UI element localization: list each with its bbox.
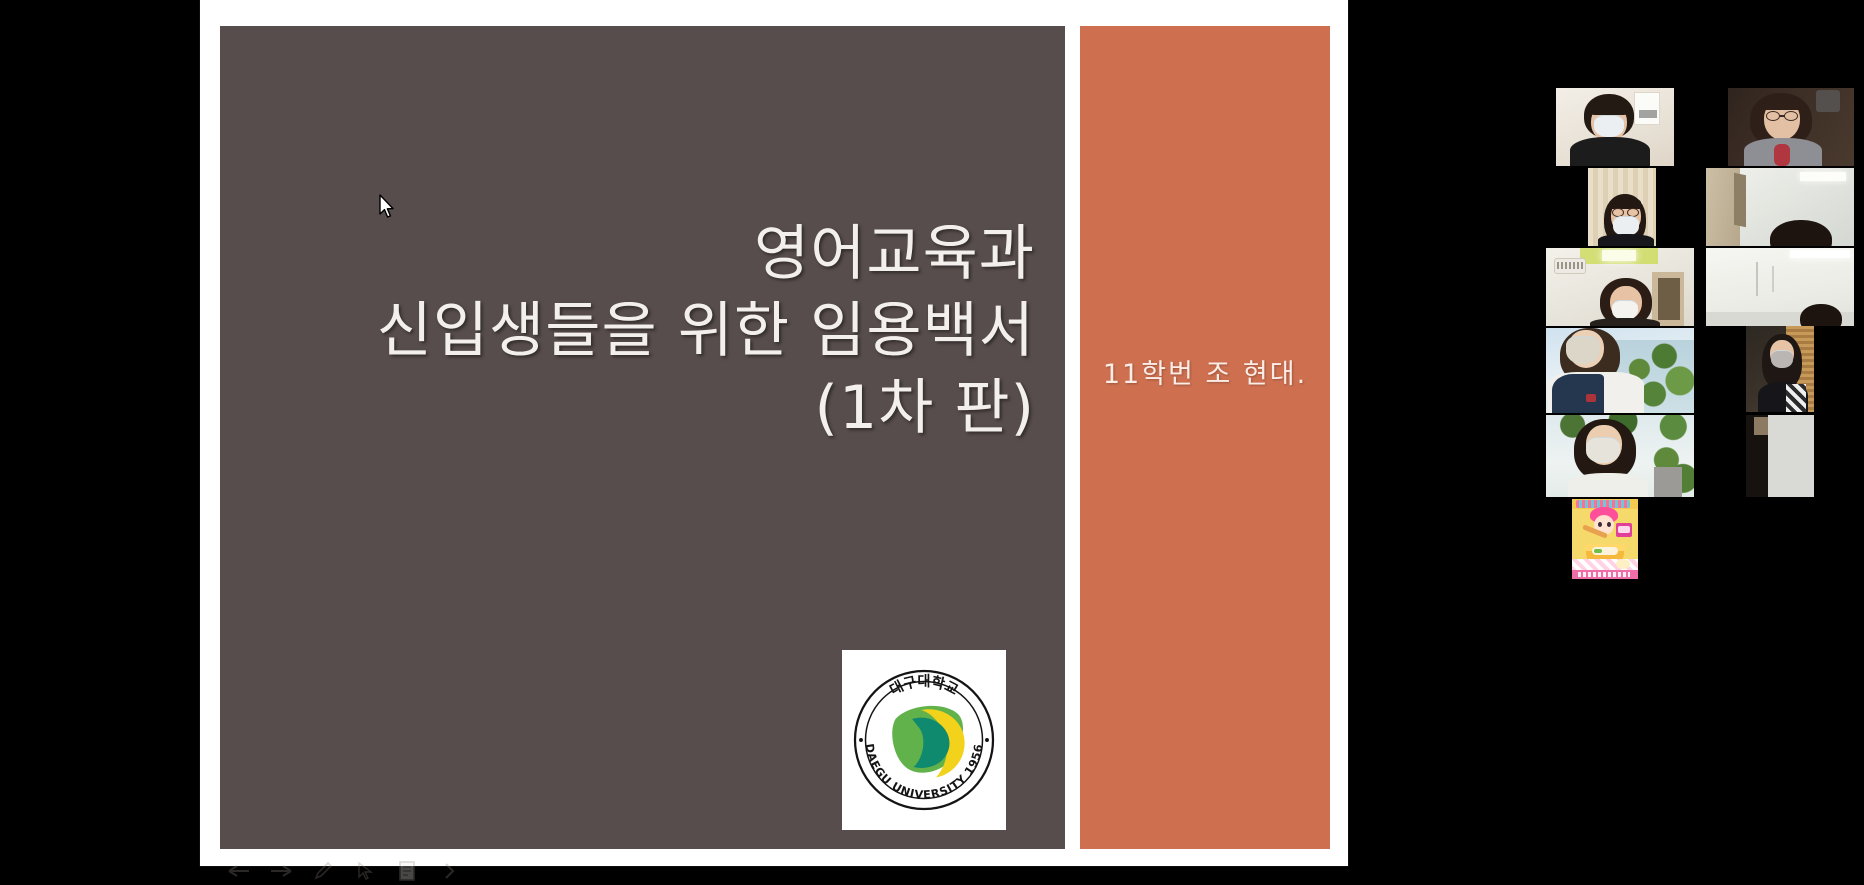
participant-tile[interactable] bbox=[1546, 88, 1674, 166]
slide-accent-panel: 11학번 조 현대. bbox=[1080, 26, 1330, 849]
participant-tile[interactable] bbox=[1546, 415, 1694, 497]
participant-tile[interactable] bbox=[1746, 415, 1814, 497]
presenter-name-label: 11학번 조 현대. bbox=[1080, 352, 1330, 391]
notes-panel-icon[interactable] bbox=[394, 858, 420, 884]
participant-tile[interactable] bbox=[1546, 248, 1694, 326]
screen-root: 영어교육과 신입생들을 위한 임용백서 (1차 판) bbox=[0, 0, 1864, 885]
more-options-arrow[interactable] bbox=[436, 858, 462, 884]
next-slide-arrow[interactable] bbox=[268, 858, 294, 884]
daegu-university-emblem: 대구대학교 DAEGU UNIVERSITY 1956 bbox=[842, 650, 1006, 830]
previous-slide-arrow[interactable] bbox=[226, 858, 252, 884]
slide-canvas: 영어교육과 신입생들을 위한 임용백서 (1차 판) bbox=[220, 26, 1330, 850]
participant-tile[interactable] bbox=[1706, 88, 1854, 166]
slide-title: 영어교육과 신입생들을 위한 임용백서 (1차 판) bbox=[275, 216, 1035, 446]
presentation-toolbar[interactable] bbox=[220, 854, 500, 885]
participant-tile-static-image[interactable] bbox=[1572, 499, 1638, 579]
cartoon-cooking-avatar bbox=[1572, 499, 1638, 579]
participant-tile[interactable] bbox=[1706, 248, 1854, 326]
participant-video-grid[interactable] bbox=[1546, 88, 1854, 613]
pen-annotate-icon[interactable] bbox=[310, 858, 336, 884]
participant-tile[interactable] bbox=[1706, 168, 1854, 246]
shared-presentation-window: 영어교육과 신입생들을 위한 임용백서 (1차 판) bbox=[200, 0, 1348, 866]
participant-tile[interactable] bbox=[1546, 168, 1674, 246]
pointer-icon[interactable] bbox=[352, 858, 378, 884]
participant-tile[interactable] bbox=[1746, 326, 1814, 412]
participant-tile[interactable] bbox=[1546, 328, 1694, 413]
slide-main-panel: 영어교육과 신입생들을 위한 임용백서 (1차 판) bbox=[220, 26, 1065, 849]
mouse-cursor bbox=[378, 194, 396, 220]
